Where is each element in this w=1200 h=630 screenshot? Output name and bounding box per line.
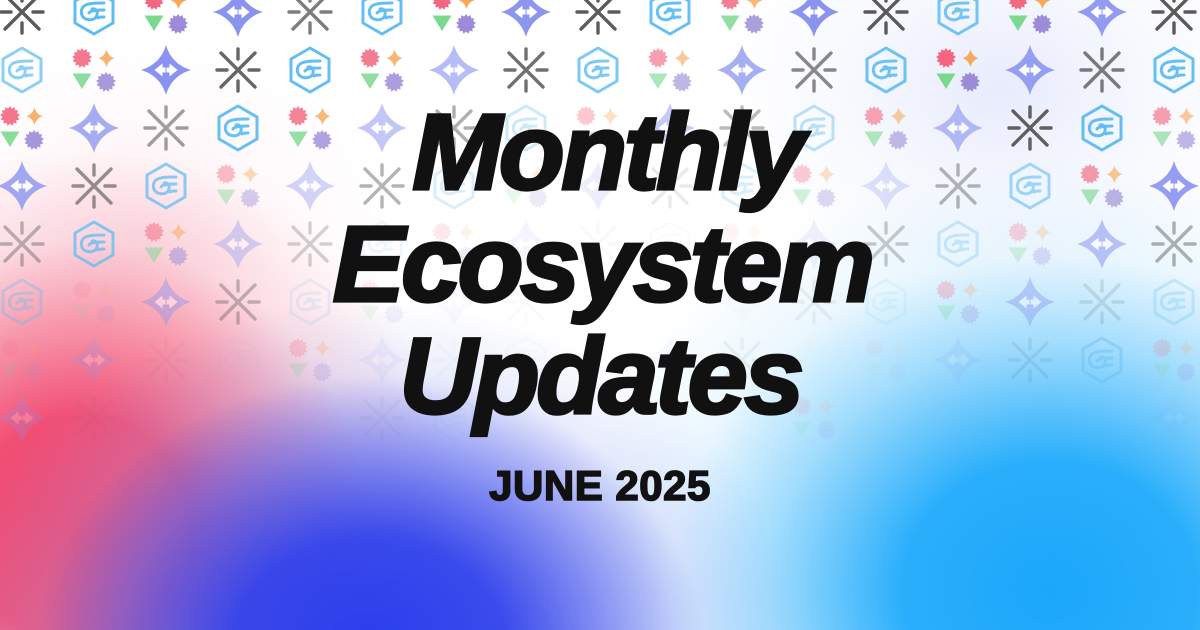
asterisk-icon [572,218,624,270]
hexagon-swirl-icon [284,44,336,96]
exchange-diamond-icon [356,334,408,386]
hexagon-swirl-icon [428,160,480,212]
asterisk-icon [860,0,912,38]
hexagon-swirl-icon [860,276,912,328]
asterisk-icon [572,0,624,38]
flower-cluster-icon [1004,0,1056,38]
asterisk-icon [1076,276,1128,328]
flower-cluster-icon [644,44,696,96]
asterisk-icon [860,218,912,270]
exchange-diamond-icon [0,392,48,444]
exchange-diamond-icon [1148,392,1200,444]
flower-cluster-icon [284,102,336,154]
asterisk-icon [716,102,768,154]
hexagon-swirl-icon [500,334,552,386]
hexagon-swirl-icon [68,0,120,38]
icon-pattern [0,0,1200,630]
flower-cluster-icon [140,218,192,270]
flower-cluster-icon [1004,218,1056,270]
exchange-diamond-icon [428,276,480,328]
hexagon-swirl-icon [644,218,696,270]
monthly-ecosystem-updates-banner: Monthly Ecosystem Updates JUNE 2025 [0,0,1200,630]
hexagon-swirl-icon [212,102,264,154]
asterisk-icon [140,102,192,154]
exchange-diamond-icon [140,276,192,328]
hexagon-swirl-icon [500,102,552,154]
exchange-diamond-icon [788,218,840,270]
exchange-diamond-icon [1004,44,1056,96]
exchange-diamond-icon [932,334,984,386]
asterisk-icon [356,160,408,212]
exchange-diamond-icon [500,218,552,270]
asterisk-icon [788,276,840,328]
exchange-diamond-icon [284,160,336,212]
exchange-diamond-icon [68,102,120,154]
hexagon-swirl-icon [1004,392,1056,444]
hexagon-swirl-icon [356,0,408,38]
asterisk-icon [1004,334,1056,386]
exchange-diamond-icon [644,102,696,154]
asterisk-icon [0,218,48,270]
hexagon-swirl-icon [428,392,480,444]
flower-cluster-icon [860,334,912,386]
flower-cluster-icon [140,450,192,502]
hexagon-swirl-icon [0,276,48,328]
exchange-diamond-icon [572,160,624,212]
hexagon-swirl-icon [1004,160,1056,212]
hexagon-swirl-icon [212,334,264,386]
asterisk-icon [644,160,696,212]
hexagon-swirl-icon [140,160,192,212]
exchange-diamond-icon [716,44,768,96]
flower-cluster-icon [716,0,768,38]
hexagon-swirl-icon [1076,102,1128,154]
asterisk-icon [212,276,264,328]
flower-cluster-icon [716,218,768,270]
exchange-diamond-icon [0,160,48,212]
exchange-diamond-icon [428,44,480,96]
asterisk-icon [68,160,120,212]
exchange-diamond-icon [1004,276,1056,328]
flower-cluster-icon [428,218,480,270]
exchange-diamond-icon [716,276,768,328]
hexagon-swirl-icon [1076,334,1128,386]
flower-cluster-icon [284,334,336,386]
flower-cluster-icon [356,276,408,328]
asterisk-icon [788,44,840,96]
asterisk-icon [68,392,120,444]
exchange-diamond-icon [644,334,696,386]
exchange-diamond-icon [212,218,264,270]
hexagon-swirl-icon [644,0,696,38]
flower-cluster-icon [932,44,984,96]
asterisk-icon [0,0,48,38]
flower-cluster-icon [0,334,48,386]
exchange-diamond-icon [140,44,192,96]
exchange-diamond-icon [500,0,552,38]
exchange-diamond-icon [932,102,984,154]
hexagon-swirl-icon [68,218,120,270]
flower-cluster-icon [860,102,912,154]
hexagon-swirl-icon [932,0,984,38]
exchange-diamond-icon [1076,218,1128,270]
exchange-diamond-icon [356,102,408,154]
asterisk-icon [500,276,552,328]
flower-cluster-icon [68,44,120,96]
flower-cluster-icon [788,392,840,444]
flower-cluster-icon [500,160,552,212]
flower-cluster-icon [572,102,624,154]
exchange-diamond-icon [500,450,552,502]
exchange-diamond-icon [788,0,840,38]
hexagon-swirl-icon [0,44,48,96]
flower-cluster-icon [140,0,192,38]
hexagon-swirl-icon [572,44,624,96]
flower-cluster-icon [0,102,48,154]
asterisk-icon [140,334,192,386]
hexagon-swirl-icon [356,218,408,270]
flower-cluster-icon [1076,160,1128,212]
flower-cluster-icon [932,276,984,328]
hexagon-swirl-icon [1148,276,1200,328]
flower-cluster-icon [788,160,840,212]
asterisk-icon [500,44,552,96]
hexagon-swirl-icon [1148,44,1200,96]
exchange-diamond-icon [1076,0,1128,38]
flower-cluster-icon [1148,334,1200,386]
asterisk-icon [1148,218,1200,270]
asterisk-icon [1004,102,1056,154]
hexagon-swirl-icon [788,102,840,154]
exchange-diamond-icon [68,334,120,386]
hexagon-swirl-icon [860,44,912,96]
hexagon-swirl-icon [932,218,984,270]
exchange-diamond-icon [860,160,912,212]
flower-cluster-icon [1148,102,1200,154]
asterisk-icon [428,102,480,154]
exchange-diamond-icon [1148,160,1200,212]
asterisk-icon [356,392,408,444]
asterisk-icon [716,334,768,386]
asterisk-icon [284,218,336,270]
hexagon-swirl-icon [284,276,336,328]
exchange-diamond-icon [212,0,264,38]
flower-cluster-icon [212,160,264,212]
asterisk-icon [212,44,264,96]
asterisk-icon [1148,0,1200,38]
hexagon-swirl-icon [716,160,768,212]
asterisk-icon [428,334,480,386]
flower-cluster-icon [428,0,480,38]
asterisk-icon [284,0,336,38]
flower-cluster-icon [68,276,120,328]
flower-cluster-icon [356,44,408,96]
asterisk-icon [932,160,984,212]
asterisk-icon [1076,44,1128,96]
